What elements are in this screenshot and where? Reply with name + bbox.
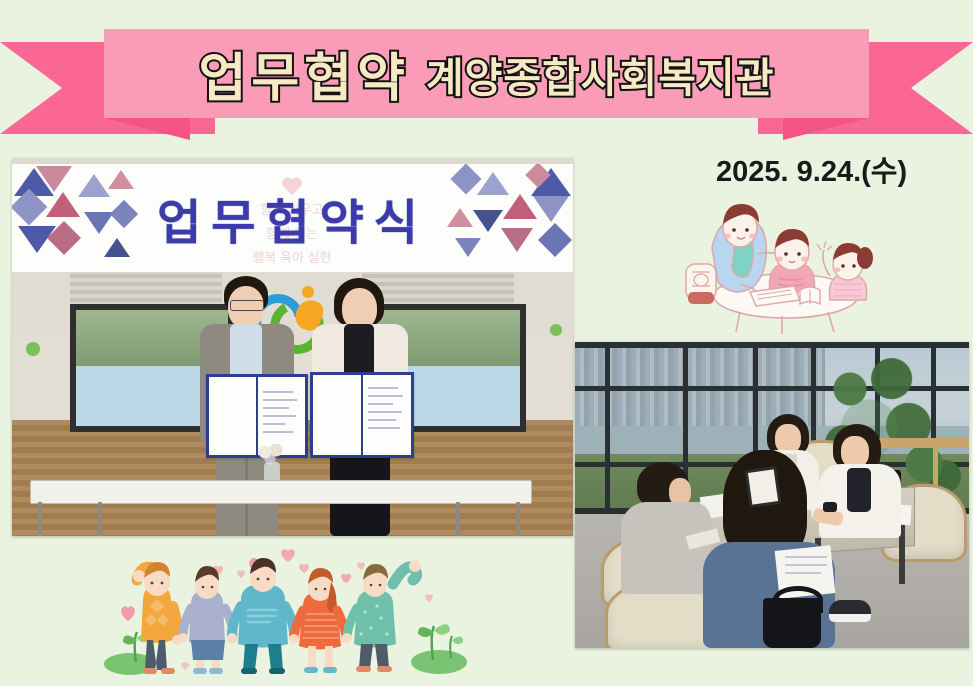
poster-canvas: 업무협약 계양종합사회복지관 2025. 9.24.(수)	[0, 0, 973, 686]
backdrop-main-title: 업무협약식	[12, 164, 573, 272]
plant-right	[411, 624, 467, 674]
person-4-orange-red	[289, 568, 351, 673]
ribbon-text-group: 업무협약 계양종합사회복지관	[104, 29, 869, 118]
illustration-people-holding-hands	[95, 548, 475, 676]
person-jacket	[621, 502, 711, 594]
photo-meeting	[575, 342, 969, 648]
wall-dot-left	[26, 342, 40, 356]
banner-sub-title: 계양종합사회복지관	[426, 44, 774, 104]
window-mullion	[605, 342, 610, 514]
title-ribbon: 업무협약 계양종합사회복지관	[0, 14, 973, 134]
glasses-icon	[230, 300, 264, 311]
agreement-document-woman	[310, 372, 414, 458]
banner-main-title: 업무협약	[199, 36, 410, 111]
photo-signing-ceremony: 함께 키우고 함께 웃는 행복 육아 실현 업무협약식	[12, 158, 573, 536]
table-legs-group	[38, 502, 522, 536]
handbag-strap	[773, 586, 823, 613]
event-date: 2025. 9.24.(수)	[716, 148, 907, 190]
ceremony-backdrop-banner: 함께 키우고 함께 웃는 행복 육아 실현 업무협약식	[12, 164, 573, 272]
person-3-teal	[227, 558, 299, 674]
sneaker-sole	[829, 614, 871, 622]
wall-dot-right	[550, 324, 562, 336]
illustration-study-group	[678, 196, 893, 336]
woman-head	[342, 288, 377, 329]
meeting-person-grey-jacket	[621, 462, 707, 592]
person-inner-top	[847, 468, 871, 512]
holding-hands-svg	[95, 548, 475, 676]
hair-clip-icon	[745, 466, 782, 508]
person-2-lavender	[178, 566, 238, 674]
window-frame-top	[575, 342, 969, 348]
study-group-svg	[678, 196, 893, 336]
person-5-green	[342, 560, 421, 672]
ceremony-table	[30, 480, 532, 504]
agreement-document-man	[206, 374, 308, 458]
